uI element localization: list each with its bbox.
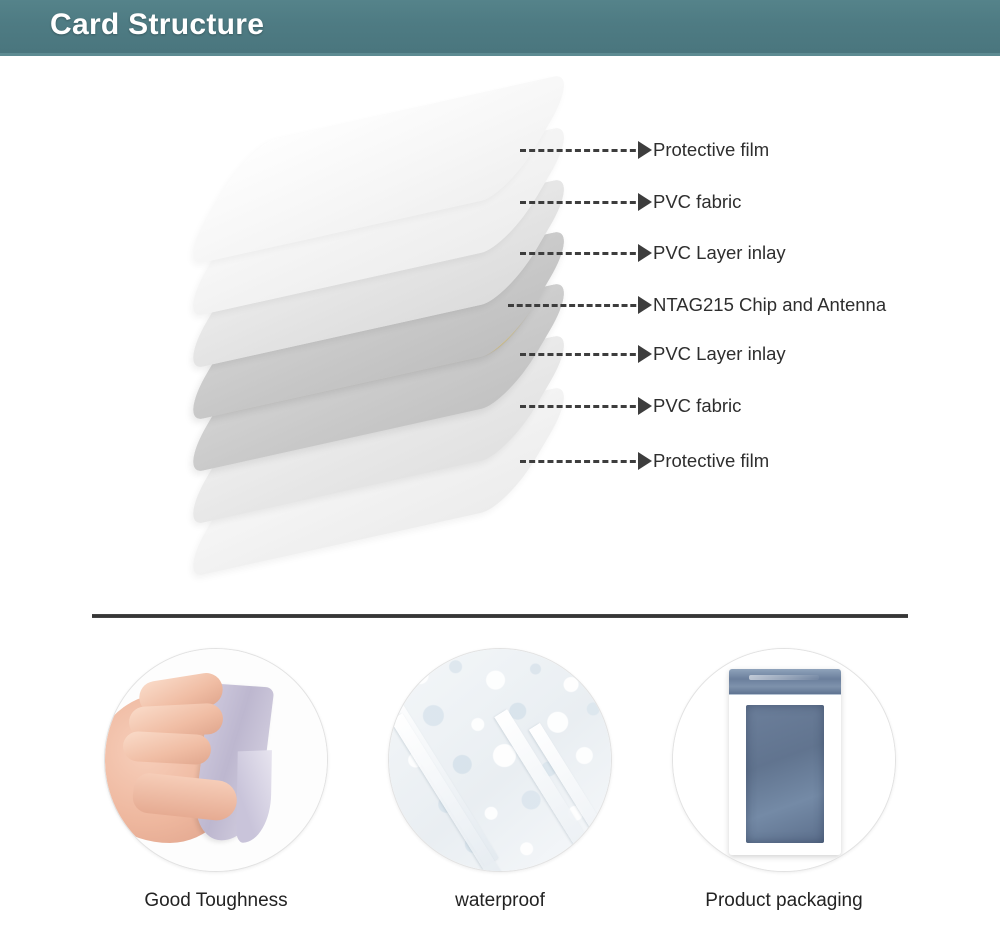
card-structure-page: Card Structure [0, 0, 1000, 933]
layer-label-6: PVC fabric [653, 397, 741, 416]
leader-arrow-1 [638, 141, 652, 159]
sheet-edge [390, 713, 513, 872]
leader-line-1 [520, 149, 645, 152]
layer-label-2: PVC fabric [653, 193, 741, 212]
leader-arrow-4 [638, 296, 652, 314]
layer-label-4: NTAG215 Chip and Antenna [653, 296, 886, 315]
layer-label-7: Protective film [653, 452, 769, 471]
water-droplets-photo [389, 649, 611, 871]
finger-shape [122, 731, 211, 766]
sheet-edge [494, 709, 612, 872]
zip-bag-highlight [737, 699, 745, 849]
leader-arrow-3 [638, 244, 652, 262]
card-structure-diagram: Protective film PVC fabric PVC Layer inl… [0, 56, 1000, 596]
feature-highlights: Good Toughness waterproof [0, 648, 1000, 933]
feature-product-packaging: Product packaging [664, 648, 904, 912]
sheet-edge [529, 723, 612, 872]
zip-bag-seal [729, 669, 841, 695]
leader-line-2 [520, 201, 645, 204]
sheet-edge [388, 688, 499, 866]
section-divider [92, 614, 908, 618]
leader-line-7 [520, 460, 645, 463]
leader-arrow-6 [638, 397, 652, 415]
leader-line-5 [520, 353, 645, 356]
page-header: Card Structure [0, 0, 1000, 56]
feature-caption-good-toughness: Good Toughness [96, 890, 336, 912]
zip-lock-bag-photo [673, 649, 895, 871]
zip-bag-highlight [827, 699, 834, 849]
zip-bag-window [746, 705, 824, 843]
leader-arrow-2 [638, 193, 652, 211]
feature-image-waterproof [388, 648, 612, 872]
feature-image-good-toughness [104, 648, 328, 872]
zip-bag-body [729, 669, 841, 855]
hand-bending-card-photo [105, 649, 327, 871]
feature-image-product-packaging [672, 648, 896, 872]
layer-label-3: PVC Layer inlay [653, 244, 786, 263]
leader-line-3 [520, 252, 645, 255]
feature-waterproof: waterproof [380, 648, 620, 912]
leader-line-4 [508, 304, 645, 307]
card-layer-stack [0, 56, 540, 596]
feature-caption-waterproof: waterproof [380, 890, 620, 912]
page-title: Card Structure [50, 8, 264, 42]
feature-good-toughness: Good Toughness [96, 648, 336, 912]
leader-line-6 [520, 405, 645, 408]
layer-label-1: Protective film [653, 141, 769, 160]
layer-label-5: PVC Layer inlay [653, 345, 786, 364]
zip-bag-highlight [749, 675, 819, 680]
leader-arrow-5 [638, 345, 652, 363]
feature-caption-product-packaging: Product packaging [664, 890, 904, 912]
leader-arrow-7 [638, 452, 652, 470]
